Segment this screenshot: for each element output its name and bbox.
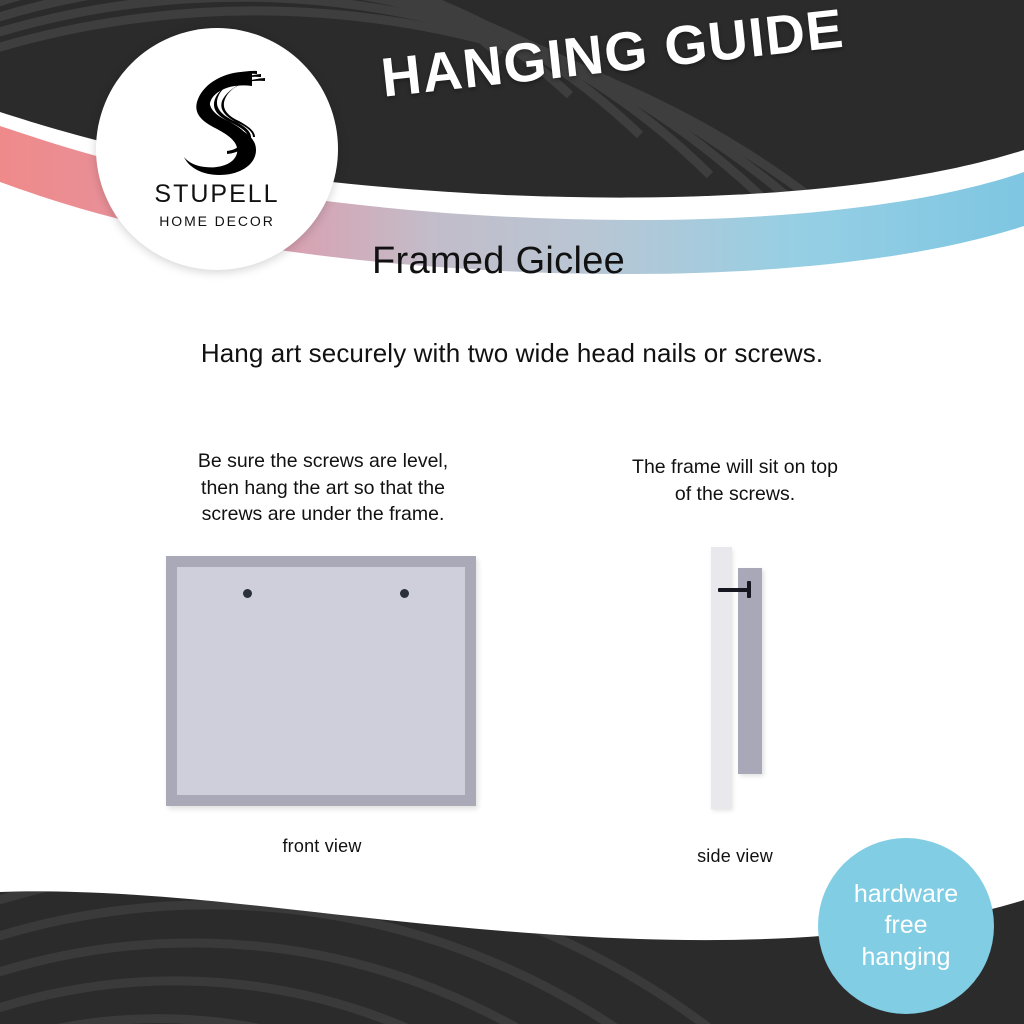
badge-line-3: hanging [862,942,951,974]
brand-tagline: HOME DECOR [159,214,274,228]
page-title: HANGING GUIDE [378,0,882,110]
main-instruction: Hang art securely with two wide head nai… [0,338,1024,369]
stupell-swoosh-logo-icon [157,58,277,178]
front-view-frame-mat [177,567,465,795]
side-view-wall [711,547,732,809]
product-type-label: Framed Giclee [372,240,625,283]
side-view-frame [738,568,762,774]
side-view-label: side view [636,846,834,867]
side-view-caption-line-1: The frame will sit on top [600,454,870,481]
screw-dot-right-icon [400,589,409,598]
front-view-caption: Be sure the screws are level, then hang … [155,448,491,528]
badge-line-2: free [884,910,927,942]
side-view-screw-shaft-icon [718,588,750,592]
badge-line-1: hardware [854,879,958,911]
side-view-caption-line-2: of the screws. [600,481,870,508]
hardware-free-hanging-badge: hardware free hanging [818,838,994,1014]
front-view-caption-line-2: then hang the art so that the [155,475,491,502]
brand-logo-badge: STUPELL HOME DECOR [96,28,338,270]
side-view-caption: The frame will sit on top of the screws. [600,454,870,507]
hanging-guide-page: STUPELL HOME DECOR HANGING GUIDE Framed … [0,0,1024,1024]
front-view-caption-line-1: Be sure the screws are level, [155,448,491,475]
front-view-caption-line-3: screws are under the frame. [155,501,491,528]
side-view-screw-head-icon [747,581,751,598]
bottom-band-texture [0,867,760,1024]
front-view-label: front view [168,836,476,857]
screw-dot-left-icon [243,589,252,598]
front-view-frame-diagram [166,556,476,806]
brand-name: STUPELL [154,182,279,207]
